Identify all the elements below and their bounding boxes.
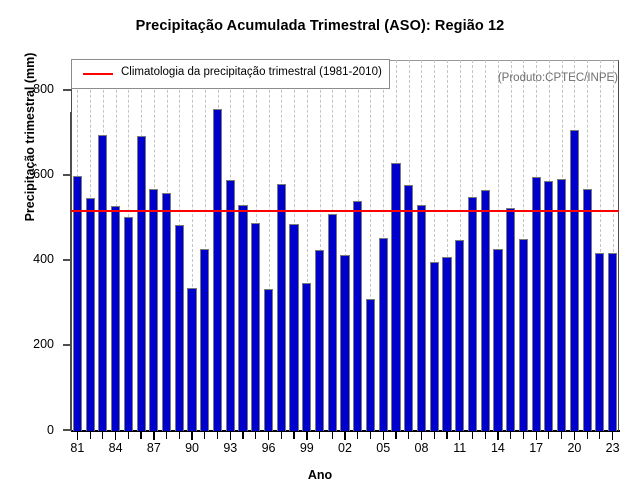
- x-tick-label: 90: [172, 441, 212, 455]
- bar: [124, 217, 133, 431]
- bar-series: [71, 60, 619, 431]
- x-tick-label: 81: [57, 441, 97, 455]
- legend-line-swatch: [83, 73, 113, 75]
- bar: [111, 206, 120, 431]
- y-tick-label: 400: [8, 253, 54, 266]
- x-tick-mark: [115, 431, 116, 440]
- bar: [353, 201, 362, 431]
- x-tick-mark: [510, 431, 511, 439]
- bar: [251, 223, 260, 431]
- x-tick-mark: [319, 431, 320, 439]
- legend: Climatologia da precipitação trimestral …: [71, 59, 390, 89]
- x-tick-mark: [179, 431, 180, 439]
- bar: [595, 253, 604, 431]
- bar: [430, 262, 439, 431]
- x-tick-label: 14: [478, 441, 518, 455]
- bar: [226, 180, 235, 431]
- x-tick-label: 17: [516, 441, 556, 455]
- x-tick-mark: [217, 431, 218, 439]
- x-tick-mark: [77, 431, 78, 440]
- x-tick-mark: [230, 431, 231, 440]
- x-tick-mark: [140, 431, 141, 439]
- bar: [213, 109, 222, 431]
- x-tick-mark: [497, 431, 498, 440]
- bar: [391, 163, 400, 431]
- bar: [493, 249, 502, 431]
- bar: [98, 135, 107, 431]
- y-tick-label: 0: [8, 424, 54, 437]
- x-tick-mark: [293, 431, 294, 439]
- bar: [277, 184, 286, 431]
- bar: [608, 253, 617, 431]
- x-tick-mark: [612, 431, 613, 440]
- y-tick-mark: [63, 429, 71, 431]
- bar: [137, 136, 146, 431]
- x-axis-title: Ano: [0, 468, 640, 482]
- bar: [404, 185, 413, 431]
- bar: [200, 249, 209, 431]
- x-tick-mark: [459, 431, 460, 440]
- bar: [468, 197, 477, 431]
- x-tick-label: 84: [96, 441, 136, 455]
- x-tick-label: 96: [249, 441, 289, 455]
- x-tick-mark: [536, 431, 537, 440]
- x-tick-mark: [561, 431, 562, 439]
- bar: [328, 214, 337, 431]
- x-tick-mark: [421, 431, 422, 440]
- y-tick-mark: [63, 89, 71, 91]
- x-tick-mark: [472, 431, 473, 439]
- x-tick-mark: [370, 431, 371, 439]
- plot-area: [71, 60, 619, 431]
- precipitation-bar-chart: Precipitação Acumulada Trimestral (ASO):…: [0, 0, 640, 500]
- y-tick-label: 600: [8, 168, 54, 181]
- y-tick-label: 800: [8, 83, 54, 96]
- x-tick-mark: [268, 431, 269, 440]
- bar: [175, 225, 184, 431]
- x-tick-label: 23: [593, 441, 633, 455]
- bar: [519, 239, 528, 431]
- bar: [302, 283, 311, 431]
- producer-note: (Produto:CPTEC/INPE): [498, 72, 618, 84]
- bar: [532, 177, 541, 431]
- x-tick-label: 93: [210, 441, 250, 455]
- bar: [315, 250, 324, 431]
- bar: [366, 299, 375, 431]
- y-tick-mark: [63, 259, 71, 261]
- bar: [417, 205, 426, 431]
- x-tick-mark: [485, 431, 486, 439]
- x-tick-mark: [434, 431, 435, 439]
- climatology-line: [71, 210, 619, 212]
- bar: [583, 189, 592, 431]
- x-tick-mark: [242, 431, 243, 439]
- bar: [379, 238, 388, 432]
- bar: [570, 130, 579, 431]
- bar: [442, 257, 451, 431]
- x-tick-mark: [204, 431, 205, 439]
- bar: [557, 179, 566, 431]
- x-tick-mark: [548, 431, 549, 439]
- bar: [162, 193, 171, 431]
- x-tick-mark: [128, 431, 129, 439]
- bar: [481, 190, 490, 431]
- y-tick-mark: [63, 344, 71, 346]
- x-tick-mark: [191, 431, 192, 440]
- x-tick-mark: [587, 431, 588, 439]
- bar: [238, 205, 247, 431]
- x-tick-label: 08: [401, 441, 441, 455]
- x-tick-mark: [395, 431, 396, 439]
- bar: [455, 240, 464, 431]
- bar: [264, 289, 273, 431]
- x-tick-mark: [446, 431, 447, 439]
- x-tick-mark: [153, 431, 154, 440]
- x-tick-mark: [599, 431, 600, 439]
- x-tick-mark: [166, 431, 167, 439]
- bar: [289, 224, 298, 431]
- x-tick-mark: [255, 431, 256, 439]
- x-tick-label: 99: [287, 441, 327, 455]
- bar: [73, 176, 82, 431]
- x-tick-mark: [383, 431, 384, 440]
- y-tick-label: 200: [8, 338, 54, 351]
- x-tick-mark: [102, 431, 103, 439]
- x-tick-mark: [332, 431, 333, 439]
- y-tick-mark: [63, 174, 71, 176]
- x-tick-label: 11: [440, 441, 480, 455]
- bar: [506, 208, 515, 431]
- x-tick-mark: [306, 431, 307, 440]
- x-tick-mark: [344, 431, 345, 440]
- x-tick-mark: [281, 431, 282, 439]
- bar: [86, 198, 95, 431]
- x-tick-mark: [523, 431, 524, 439]
- chart-title: Precipitação Acumulada Trimestral (ASO):…: [0, 18, 640, 34]
- x-tick-label: 87: [134, 441, 174, 455]
- x-tick-label: 20: [554, 441, 594, 455]
- x-tick-mark: [90, 431, 91, 439]
- bar: [149, 189, 158, 431]
- legend-label-climatology: Climatologia da precipitação trimestral …: [121, 66, 382, 78]
- x-tick-label: 02: [325, 441, 365, 455]
- bar: [187, 288, 196, 431]
- x-tick-label: 05: [363, 441, 403, 455]
- x-tick-mark: [408, 431, 409, 439]
- bar: [544, 181, 553, 431]
- x-tick-mark: [574, 431, 575, 440]
- x-tick-mark: [357, 431, 358, 439]
- bar: [340, 255, 349, 431]
